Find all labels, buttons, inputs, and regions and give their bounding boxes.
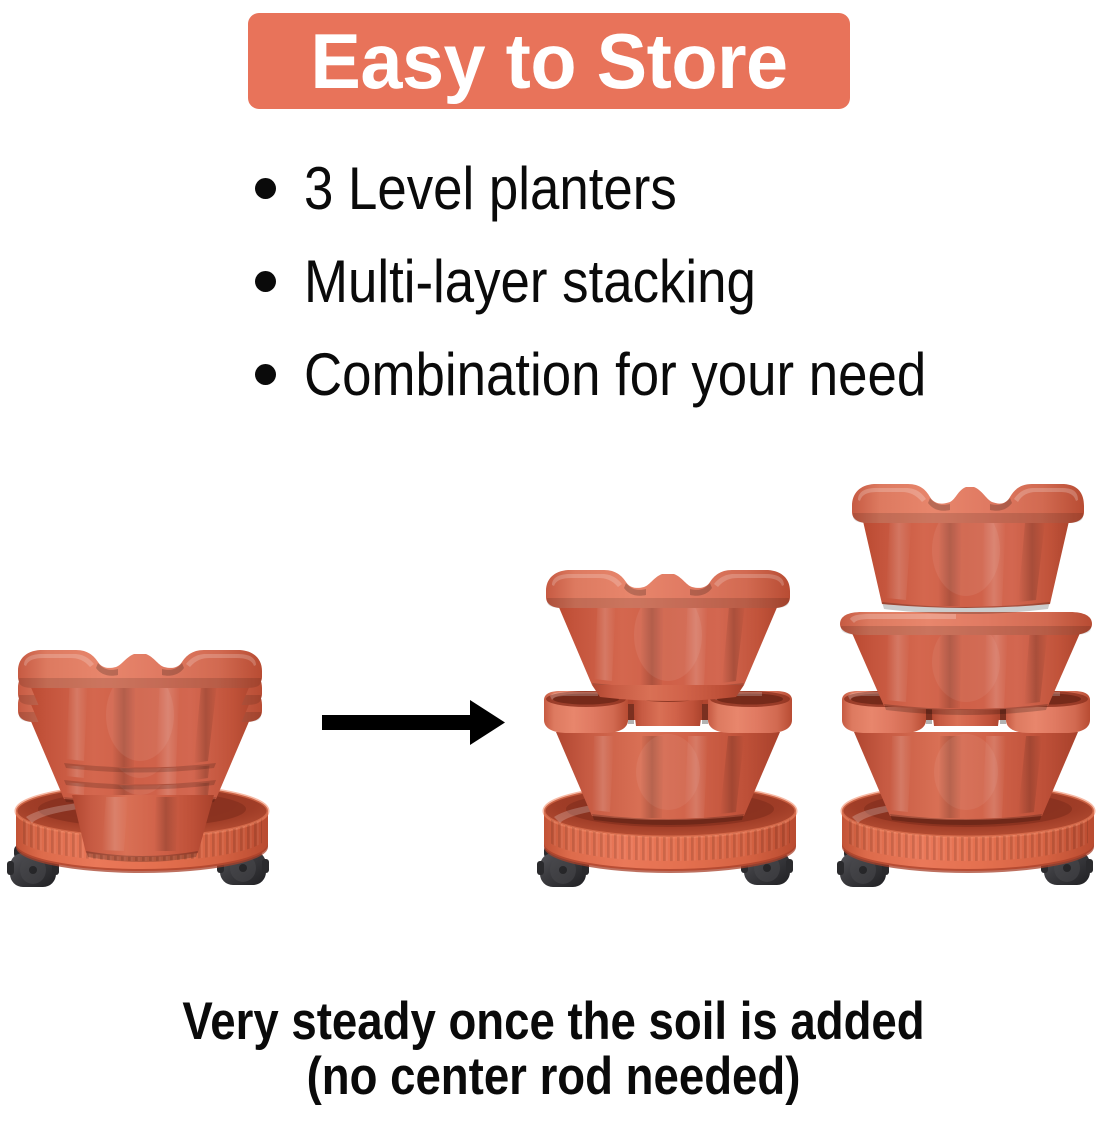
- feature-list: 3 Level planters Multi-layer stacking Co…: [255, 142, 1075, 421]
- feature-label: Combination for your need: [304, 345, 926, 405]
- two-tier-planter-stack: [537, 570, 796, 887]
- title-banner: Easy to Store: [248, 13, 850, 109]
- bullet-dot-icon: [255, 364, 276, 385]
- list-item: Multi-layer stacking: [255, 235, 1075, 328]
- list-item: 3 Level planters: [255, 142, 1075, 235]
- list-item: Combination for your need: [255, 328, 1075, 421]
- infographic-page: Easy to Store 3 Level planters Multi-lay…: [0, 0, 1107, 1122]
- product-scene: [0, 450, 1107, 950]
- bullet-dot-icon: [255, 178, 276, 199]
- caption-line-2: (no center rod needed): [77, 1050, 1029, 1105]
- feature-label: 3 Level planters: [304, 159, 677, 219]
- single-tier-planter: [7, 650, 269, 887]
- page-title: Easy to Store: [310, 22, 787, 100]
- caption-line-1: Very steady once the soil is added: [77, 995, 1029, 1050]
- bullet-dot-icon: [255, 271, 276, 292]
- right-arrow-icon: [322, 700, 505, 745]
- bottom-caption: Very steady once the soil is added (no c…: [0, 995, 1107, 1104]
- three-tier-planter-stack: [837, 484, 1094, 887]
- feature-label: Multi-layer stacking: [304, 252, 756, 312]
